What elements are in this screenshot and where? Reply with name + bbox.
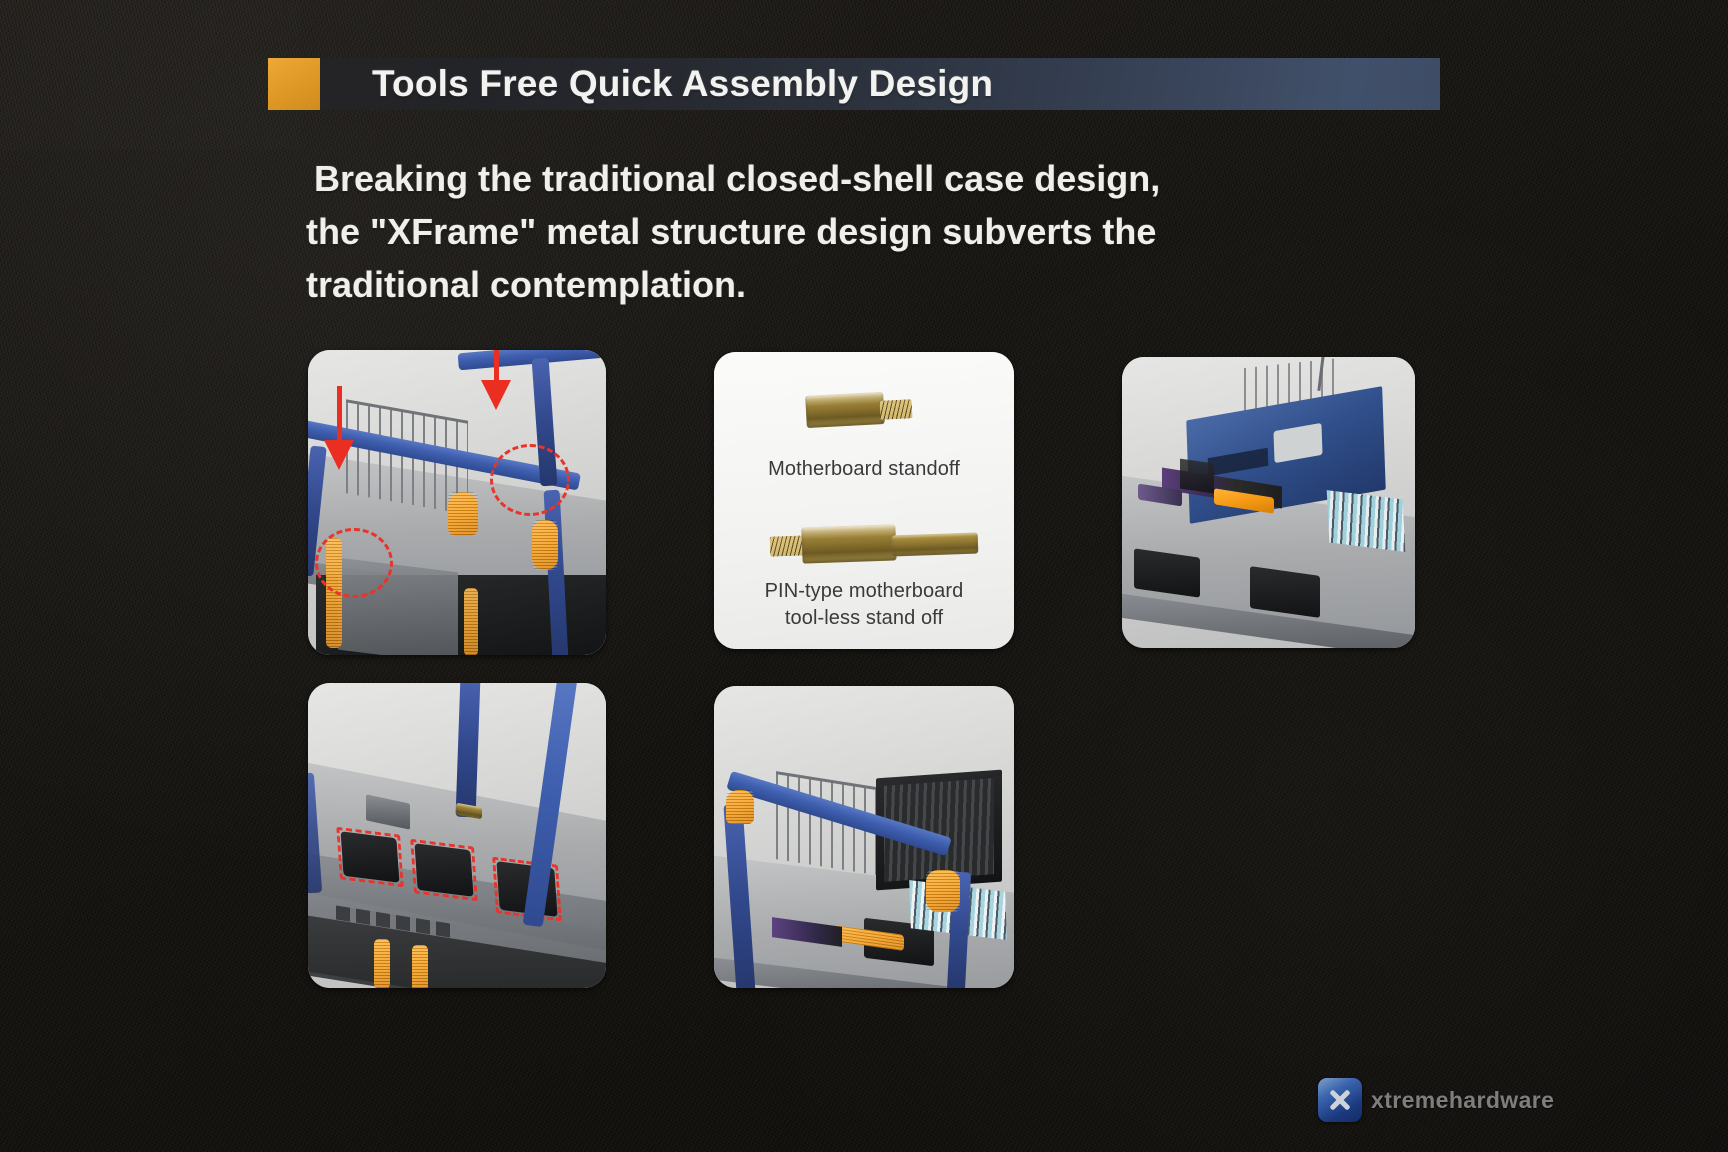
annotation-circle-left [315,528,393,598]
intro-line-1: Breaking the traditional closed-shell ca… [306,152,1456,205]
annotation-arrow-right-head [481,380,511,410]
memory-slots [1327,490,1406,552]
annotation-cutout-1 [336,827,403,888]
pin-standoff-label-line2: tool-less stand off [785,607,943,629]
pin-standoff-label: PIN-type motherboard tool-less stand off [714,578,1014,632]
tool-free-clip-center [448,492,478,536]
photo-panel-frame-assembly [714,686,1014,988]
page-title: Tools Free Quick Assembly Design [372,63,993,105]
annotation-arrow-right-stem [494,350,499,382]
intro-line-3: traditional contemplation. [306,258,1456,311]
watermark-text: xtremehardware [1371,1087,1554,1114]
photo-panel-tray-cutouts [308,683,606,988]
expansion-card-shadow [1180,459,1214,494]
tool-free-clip-right-elbow [926,870,960,912]
intro-line-2: the "XFrame" metal structure design subv… [306,205,1456,258]
tool-free-clip-bottom-right [464,588,478,655]
annotation-circle-right [490,444,570,516]
xtremehardware-logo-icon [1318,1078,1362,1122]
photo-panel-mobo-installed [1122,357,1415,648]
annotation-cutout-2 [410,839,478,902]
photo-panel-standoffs: Motherboard standoff PIN-type motherboar… [714,352,1014,649]
title-accent-swatch [268,58,320,110]
annotation-arrow-left-stem [337,386,342,442]
motherboard-standoff-thread [880,399,913,420]
tool-free-clip-top-left [726,790,754,824]
pin-standoff-label-line1: PIN-type motherboard [765,580,964,602]
photo-panel-clip-latches [308,350,606,655]
pin-standoff-pin [892,533,979,557]
section-title-bar: Tools Free Quick Assembly Design [268,58,1440,110]
motherboard-standoff-label: Motherboard standoff [714,456,1014,483]
tool-free-clip-right [532,520,558,570]
annotation-arrow-left-head [324,440,354,470]
watermark: xtremehardware [1318,1078,1554,1122]
tool-free-foot-right [412,945,428,988]
intro-paragraph: Breaking the traditional closed-shell ca… [306,152,1456,311]
tool-free-foot-left [374,939,390,988]
